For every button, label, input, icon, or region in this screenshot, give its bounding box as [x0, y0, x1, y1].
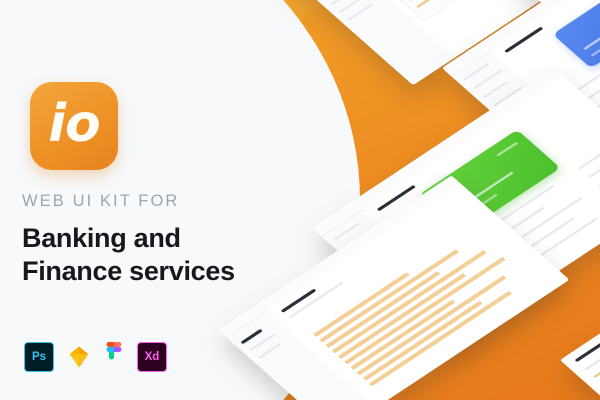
io-logo-text: io — [48, 98, 100, 150]
headline-line-2: Finance services — [22, 255, 235, 288]
sketch-icon — [65, 343, 93, 371]
figma-badge — [104, 342, 126, 372]
xd-badge: Xd — [137, 342, 167, 372]
hero-column: io WEB UI KIT FOR Banking and Finance se… — [0, 0, 270, 400]
hero-kicker: WEB UI KIT FOR — [22, 192, 179, 211]
sketch-badge — [65, 343, 93, 371]
app-badges: Ps Xd — [24, 342, 167, 372]
io-logo: io — [30, 82, 118, 170]
page-title: Banking and Finance services — [22, 222, 235, 288]
headline-line-1: Banking and — [22, 222, 235, 255]
photoshop-badge: Ps — [24, 342, 54, 372]
poster-root: io WEB UI KIT FOR Banking and Finance se… — [0, 0, 600, 400]
figma-icon — [104, 342, 124, 372]
photoshop-badge-label: Ps — [32, 351, 46, 363]
xd-badge-label: Xd — [145, 351, 160, 363]
